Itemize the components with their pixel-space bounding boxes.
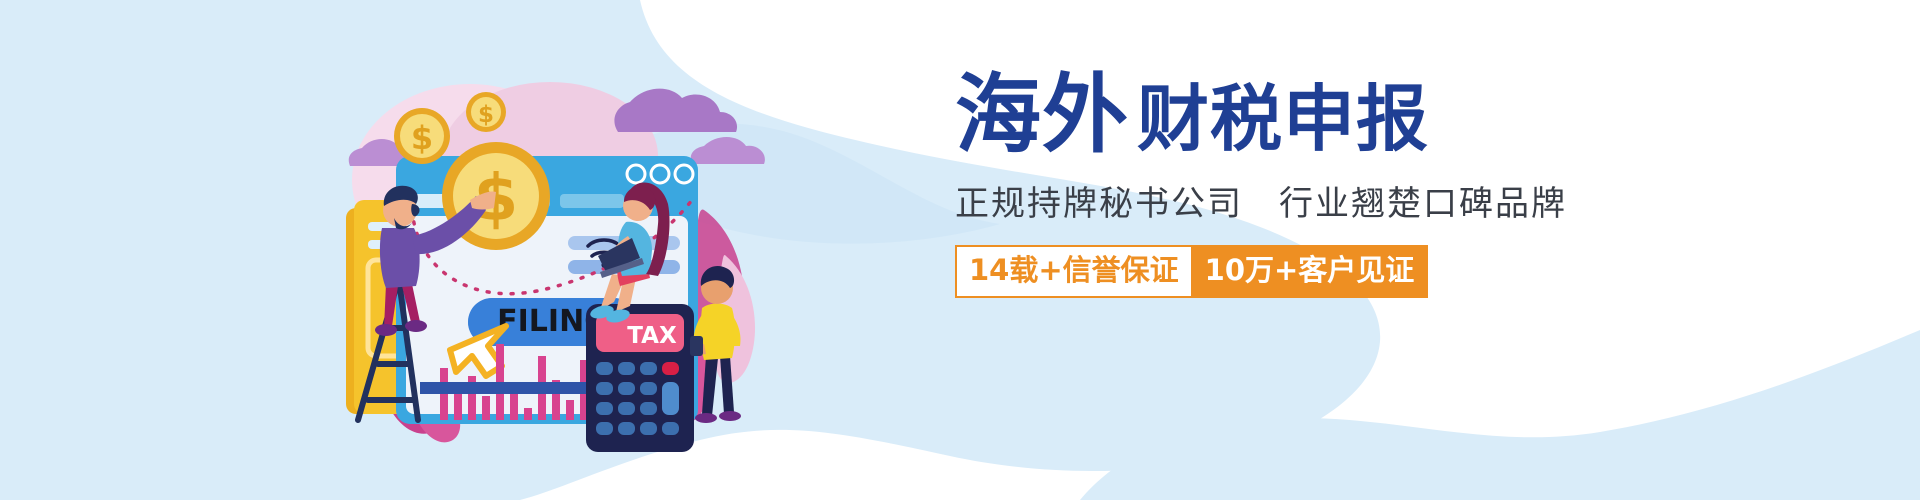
badge-clients: 10万+客户见证 [1191, 245, 1429, 298]
headline: 海外 财税申报 [955, 72, 1735, 158]
promo-banner: FILING $ $ [0, 0, 1920, 500]
headline-part-one: 海外 [955, 72, 1129, 158]
copy-block: 海外 财税申报 正规持牌秘书公司 行业翘楚口碑品牌 14载+信誉保证 10万+客… [955, 72, 1735, 298]
svg-text:$: $ [478, 102, 494, 128]
tax-filing-illustration: FILING $ $ [300, 60, 780, 460]
coin-small-left: $ [394, 108, 450, 164]
svg-text:$: $ [411, 119, 433, 157]
badge-row: 14载+信誉保证 10万+客户见证 [955, 245, 1428, 298]
calculator-display-label: TAX [627, 323, 677, 349]
coin-small-right: $ [466, 92, 506, 132]
badge-experience: 14载+信誉保证 [955, 245, 1191, 298]
subheadline: 正规持牌秘书公司 行业翘楚口碑品牌 [955, 176, 1735, 225]
headline-part-two: 财税申报 [1137, 83, 1429, 158]
calculator: TAX [586, 304, 694, 452]
